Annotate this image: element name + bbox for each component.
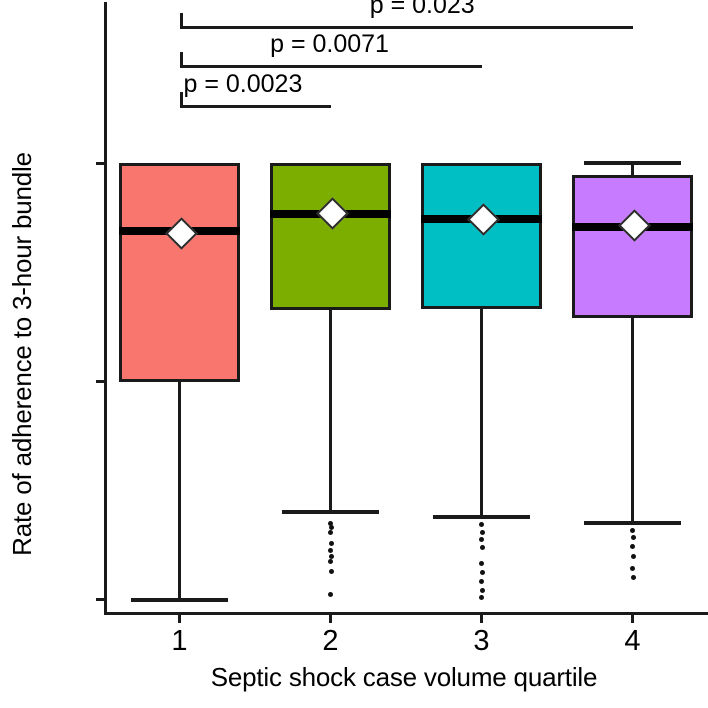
upper-whisker-cap (584, 161, 681, 165)
outlier-point (328, 592, 333, 597)
x-tick-label-4: 4 (613, 625, 653, 658)
lower-whisker-line (480, 309, 483, 517)
outlier-point (480, 570, 485, 575)
sig-bracket-line-1-2 (180, 105, 331, 108)
outlier-point (480, 545, 485, 550)
lower-whisker-line (178, 382, 181, 600)
x-tick-mark-1 (178, 613, 181, 623)
x-axis-title: Septic shock case volume quartile (100, 662, 708, 693)
outlier-point (328, 548, 333, 553)
box-rect-3 (421, 163, 542, 308)
sig-bracket-line-1-3 (180, 65, 482, 68)
lower-whisker-cap (282, 510, 379, 514)
box-rect-4 (572, 175, 693, 318)
lower-whisker-cap (584, 521, 681, 525)
outlier-point (328, 559, 333, 564)
outlier-point (630, 528, 635, 533)
lower-whisker-cap (131, 598, 228, 602)
sig-bracket-label-1-2: p = 0.0023 (184, 70, 303, 99)
x-tick-label-1: 1 (160, 625, 200, 658)
sig-bracket-tick-1-3 (180, 52, 183, 65)
box-rect-2 (270, 163, 391, 309)
sig-bracket-tick-1-2 (180, 92, 183, 105)
x-axis-line (104, 612, 708, 615)
plot-area: 1.0 0.5 0.0 1 2 3 4 p = 0.023 p = 0.0071… (104, 2, 708, 615)
outlier-point (630, 566, 635, 571)
sig-bracket-line-1-4 (180, 26, 633, 29)
outlier-point (479, 579, 484, 584)
box-rect-1 (119, 163, 240, 381)
sig-bracket-tick-1-4 (180, 13, 183, 26)
lower-whisker-cap (433, 515, 530, 519)
outlier-point (630, 544, 635, 549)
outlier-point (479, 537, 484, 542)
x-tick-mark-3 (480, 613, 483, 623)
x-tick-label-2: 2 (311, 625, 351, 658)
outlier-point (480, 530, 485, 535)
sig-bracket-label-1-3: p = 0.0071 (270, 30, 389, 59)
lower-whisker-line (329, 310, 332, 513)
outlier-point (329, 569, 334, 574)
y-axis-title: Rate of adherence to 3-hour bundle (0, 0, 44, 708)
outlier-point (479, 522, 484, 527)
boxplot-figure: Rate of adherence to 3-hour bundle Septi… (0, 0, 708, 708)
outlier-point (479, 561, 484, 566)
y-tick-mark-0.5 (96, 380, 105, 383)
outlier-point (631, 554, 636, 559)
outlier-point (329, 541, 334, 546)
outlier-point (479, 595, 484, 600)
x-tick-mark-4 (631, 613, 634, 623)
lower-whisker-line (631, 318, 634, 523)
outlier-point (480, 588, 485, 593)
outlier-point (631, 535, 636, 540)
y-tick-mark-1.0 (96, 162, 105, 165)
outlier-point (328, 530, 333, 535)
x-tick-label-3: 3 (462, 625, 502, 658)
outlier-point (631, 575, 636, 580)
outlier-point (329, 554, 334, 559)
x-tick-mark-2 (329, 613, 332, 623)
sig-bracket-label-1-4: p = 0.023 (370, 0, 475, 20)
y-tick-mark-0.0 (96, 598, 105, 601)
y-axis-line (104, 2, 107, 615)
